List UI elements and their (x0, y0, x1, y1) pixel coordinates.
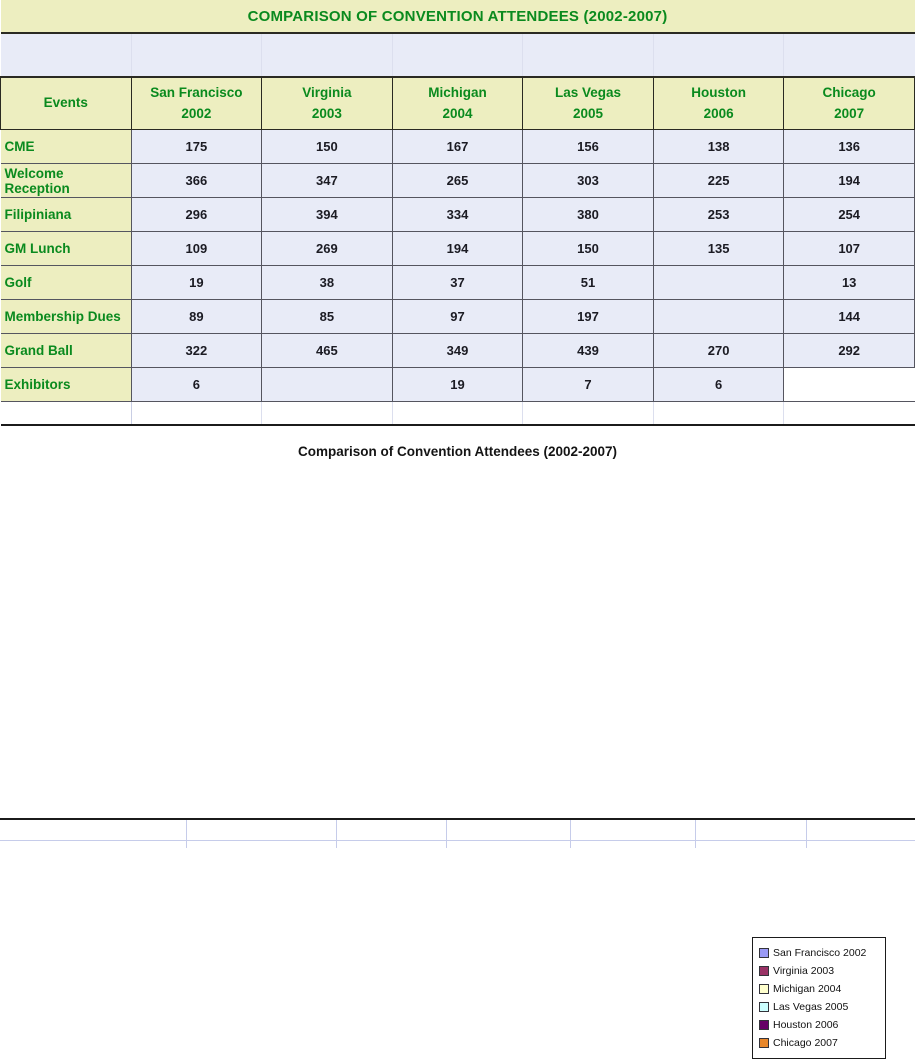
spacer-cell (131, 33, 262, 55)
value-cell: 167 (392, 130, 523, 164)
value-cell: 109 (131, 232, 262, 266)
legend-swatch-icon (759, 984, 769, 994)
event-name-cell: Membership Dues (1, 300, 132, 334)
column-header-city: Las Vegas (523, 83, 653, 104)
value-cell: 6 (653, 368, 784, 402)
legend-item: Las Vegas 2005 (759, 998, 880, 1016)
value-cell: 394 (262, 198, 393, 232)
column-header-year: 2004 (393, 104, 523, 125)
column-header-chicago: Chicago2007 (784, 77, 915, 130)
column-header-michigan: Michigan2004 (392, 77, 523, 130)
value-cell: 465 (262, 334, 393, 368)
column-header-year: 2002 (132, 104, 262, 125)
table-row: CME175150167156138136 (1, 130, 915, 164)
legend-label: San Francisco 2002 (773, 947, 866, 959)
table-row: Exhibitors61976 (1, 368, 915, 402)
column-header-year: 2007 (784, 104, 914, 125)
table-row: Grand Ball322465349439270292 (1, 334, 915, 368)
value-cell: 37 (392, 266, 523, 300)
legend-label: Houston 2006 (773, 1019, 838, 1031)
event-name-cell: Welcome Reception (1, 164, 132, 198)
value-cell: 13 (784, 266, 915, 300)
spacer-row-1 (1, 33, 915, 55)
table-row: Golf1938375113 (1, 266, 915, 300)
column-header-houston: Houston2006 (653, 77, 784, 130)
value-cell: 322 (131, 334, 262, 368)
column-header-city: Michigan (393, 83, 523, 104)
legend-swatch-icon (759, 966, 769, 976)
value-cell: 225 (653, 164, 784, 198)
column-header-events: Events (1, 77, 132, 130)
value-cell-empty (653, 266, 784, 300)
value-cell-empty (262, 368, 393, 402)
value-cell: 269 (262, 232, 393, 266)
event-name-cell: Filipiniana (1, 198, 132, 232)
value-cell: 380 (523, 198, 654, 232)
value-cell: 138 (653, 130, 784, 164)
bar-chart-plot: 050100150200250300350400450500CMEWelcome… (0, 426, 915, 821)
value-cell: 175 (131, 130, 262, 164)
value-cell: 107 (784, 232, 915, 266)
spacer-row-2 (1, 55, 915, 77)
value-cell: 197 (523, 300, 654, 334)
value-cell: 38 (262, 266, 393, 300)
column-header-year: 2006 (654, 104, 784, 125)
spacer-cell (262, 33, 393, 55)
spacer-cell (1, 55, 132, 77)
legend-item: Michigan 2004 (759, 980, 880, 998)
tail-cell (784, 402, 915, 426)
spreadsheet-body: COMPARISON OF CONVENTION ATTENDEES (2002… (1, 0, 915, 425)
value-cell: 292 (784, 334, 915, 368)
tail-cell (262, 402, 393, 426)
spacer-cell (392, 55, 523, 77)
column-header-las-vegas: Las Vegas2005 (523, 77, 654, 130)
value-cell: 265 (392, 164, 523, 198)
legend-swatch-icon (759, 1038, 769, 1048)
table-header-row: EventsSan Francisco2002Virginia2003Michi… (1, 77, 915, 130)
tail-cell (523, 402, 654, 426)
legend-item: Houston 2006 (759, 1016, 880, 1034)
event-name-cell: GM Lunch (1, 232, 132, 266)
spacer-cell (1, 33, 132, 55)
chart-region: Comparison of Convention Attendees (2002… (0, 426, 915, 821)
spacer-cell (523, 33, 654, 55)
value-cell: 303 (523, 164, 654, 198)
spacer-cell (131, 55, 262, 77)
event-name-cell: CME (1, 130, 132, 164)
spacer-cell (784, 33, 915, 55)
column-header-city: Virginia (262, 83, 392, 104)
value-cell: 144 (784, 300, 915, 334)
spacer-cell (653, 33, 784, 55)
value-cell: 89 (131, 300, 262, 334)
value-cell: 6 (131, 368, 262, 402)
legend-item: Chicago 2007 (759, 1034, 880, 1052)
value-cell: 7 (523, 368, 654, 402)
column-header-city: San Francisco (132, 83, 262, 104)
spacer-cell (392, 33, 523, 55)
value-cell: 349 (392, 334, 523, 368)
column-header-year: 2005 (523, 104, 653, 125)
sheet-tail-row (1, 402, 915, 426)
attendees-spreadsheet: COMPARISON OF CONVENTION ATTENDEES (2002… (0, 0, 915, 426)
value-cell: 439 (523, 334, 654, 368)
value-cell: 347 (262, 164, 393, 198)
value-cell: 253 (653, 198, 784, 232)
legend-swatch-icon (759, 948, 769, 958)
value-cell: 194 (784, 164, 915, 198)
value-cell: 270 (653, 334, 784, 368)
event-name-cell: Exhibitors (1, 368, 132, 402)
legend-label: Virginia 2003 (773, 965, 834, 977)
event-name-cell: Grand Ball (1, 334, 132, 368)
event-name-cell: Golf (1, 266, 132, 300)
column-header-city: Chicago (784, 83, 914, 104)
table-row: GM Lunch109269194150135107 (1, 232, 915, 266)
value-cell: 150 (262, 130, 393, 164)
spacer-cell (523, 55, 654, 77)
table-row: Filipiniana296394334380253254 (1, 198, 915, 232)
value-cell: 85 (262, 300, 393, 334)
sheet-title: COMPARISON OF CONVENTION ATTENDEES (2002… (1, 0, 915, 33)
tail-cell (1, 402, 132, 426)
legend-label: Chicago 2007 (773, 1037, 838, 1049)
value-cell: 19 (392, 368, 523, 402)
value-cell-empty (653, 300, 784, 334)
column-header-san-francisco: San Francisco2002 (131, 77, 262, 130)
value-cell: 366 (131, 164, 262, 198)
legend-swatch-icon (759, 1020, 769, 1030)
value-cell: 51 (523, 266, 654, 300)
value-cell: 150 (523, 232, 654, 266)
value-cell-empty (784, 368, 915, 402)
chart-legend: San Francisco 2002Virginia 2003Michigan … (752, 937, 886, 1059)
legend-item: San Francisco 2002 (759, 944, 880, 962)
table-row: Welcome Reception366347265303225194 (1, 164, 915, 198)
legend-label: Las Vegas 2005 (773, 1001, 848, 1013)
legend-swatch-icon (759, 1002, 769, 1012)
bottom-gridlines (0, 818, 915, 848)
value-cell: 156 (523, 130, 654, 164)
value-cell: 19 (131, 266, 262, 300)
legend-item: Virginia 2003 (759, 962, 880, 980)
value-cell: 136 (784, 130, 915, 164)
value-cell: 194 (392, 232, 523, 266)
tail-cell (131, 402, 262, 426)
spacer-cell (653, 55, 784, 77)
value-cell: 296 (131, 198, 262, 232)
value-cell: 97 (392, 300, 523, 334)
value-cell: 334 (392, 198, 523, 232)
spacer-cell (262, 55, 393, 77)
legend-label: Michigan 2004 (773, 983, 841, 995)
table-row: Membership Dues898597197144 (1, 300, 915, 334)
value-cell: 254 (784, 198, 915, 232)
tail-cell (392, 402, 523, 426)
tail-cell (653, 402, 784, 426)
column-header-virginia: Virginia2003 (262, 77, 393, 130)
sheet-title-row: COMPARISON OF CONVENTION ATTENDEES (2002… (1, 0, 915, 33)
column-header-city: Houston (654, 83, 784, 104)
spacer-cell (784, 55, 915, 77)
value-cell: 135 (653, 232, 784, 266)
column-header-year: 2003 (262, 104, 392, 125)
